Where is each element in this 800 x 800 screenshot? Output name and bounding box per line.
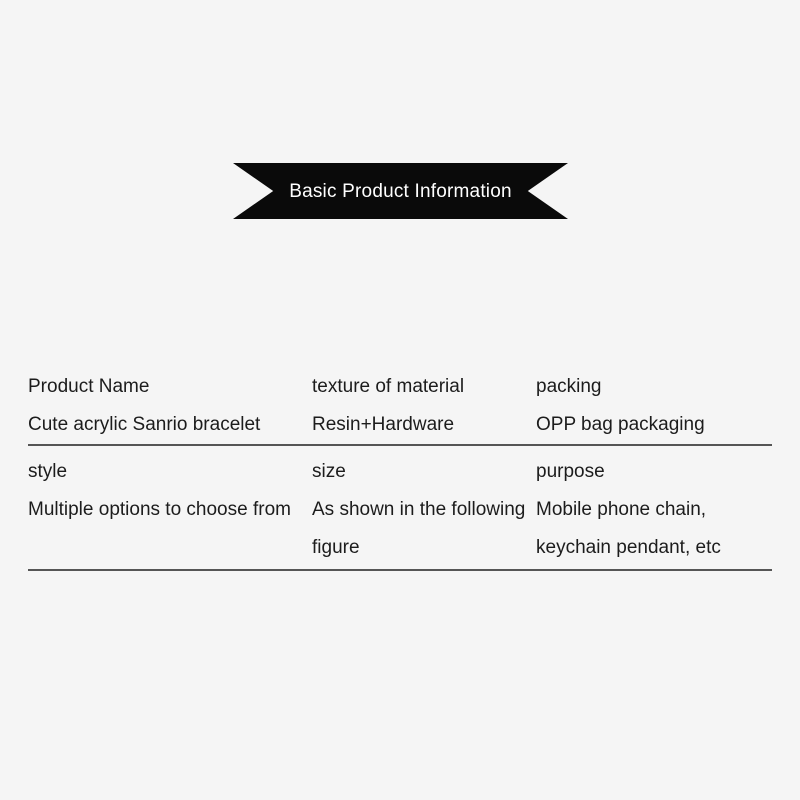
table-cell-texture-of-material: texture of material Resin+Hardware xyxy=(312,368,536,444)
spec-value: Resin+Hardware xyxy=(312,406,526,444)
specification-table: Product Name Cute acrylic Sanrio bracele… xyxy=(28,368,772,571)
banner-ribbon: Basic Product Information xyxy=(233,163,568,219)
spec-value: Multiple options to choose from xyxy=(28,491,302,529)
spec-value: Mobile phone chain, keychain pendant, et… xyxy=(536,491,762,567)
table-cell-packing: packing OPP bag packaging xyxy=(536,368,772,444)
product-info-page: Basic Product Information Product Name C… xyxy=(0,0,800,800)
banner-title: Basic Product Information xyxy=(289,182,512,201)
table-cell-style: style Multiple options to choose from xyxy=(28,453,312,529)
spec-label: purpose xyxy=(536,453,762,491)
table-row: Product Name Cute acrylic Sanrio bracele… xyxy=(28,368,772,444)
banner-shape: Basic Product Information xyxy=(233,163,568,219)
spec-label: texture of material xyxy=(312,368,526,406)
table-cell-purpose: purpose Mobile phone chain, keychain pen… xyxy=(536,453,772,567)
spec-value: As shown in the following figure xyxy=(312,491,526,567)
spec-label: size xyxy=(312,453,526,491)
spec-label: Product Name xyxy=(28,368,302,406)
table-cell-size: size As shown in the following figure xyxy=(312,453,536,567)
table-row: style Multiple options to choose from si… xyxy=(28,446,772,569)
spec-value: OPP bag packaging xyxy=(536,406,762,444)
spec-value: Cute acrylic Sanrio bracelet xyxy=(28,406,302,444)
spec-label: packing xyxy=(536,368,762,406)
spec-label: style xyxy=(28,453,302,491)
table-cell-product-name: Product Name Cute acrylic Sanrio bracele… xyxy=(28,368,312,444)
row-divider xyxy=(28,569,772,571)
